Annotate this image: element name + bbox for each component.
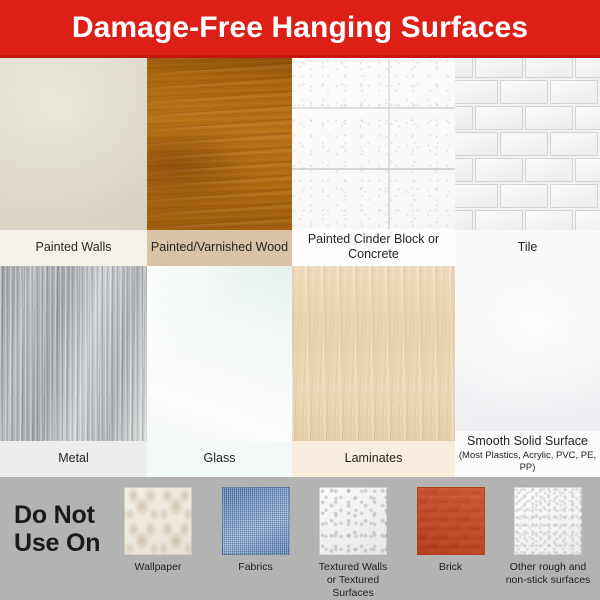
surface-caption: Smooth Solid Surface (Most Plastics, Acr… xyxy=(455,431,600,477)
do-not-item-label-line2: non-stick surfaces xyxy=(506,574,591,587)
textured-walls-swatch xyxy=(319,487,387,555)
surface-row-2: Metal Glass Laminates Smooth Solid Surfa… xyxy=(0,266,600,477)
smooth-solid-surface-swatch xyxy=(455,266,600,431)
do-not-use-on-items: Wallpaper Fabrics Textured Walls or Text… xyxy=(114,487,594,599)
surface-label: Tile xyxy=(518,240,538,255)
do-not-item-textured-walls: Textured Walls or Textured Surfaces xyxy=(309,487,397,599)
do-not-use-on-title: Do Not Use On xyxy=(6,487,114,557)
surface-label: Metal xyxy=(58,451,89,466)
metal-swatch xyxy=(0,266,147,441)
do-not-item-fabrics: Fabrics xyxy=(212,487,300,599)
surface-caption: Laminates xyxy=(292,441,455,477)
tile-pattern xyxy=(455,58,600,230)
laminate-swatch xyxy=(292,266,455,441)
do-not-item-wallpaper: Wallpaper xyxy=(114,487,202,599)
surface-caption: Metal xyxy=(0,441,147,477)
surface-label: Smooth Solid Surface xyxy=(467,434,588,449)
surface-sublabel: (Most Plastics, Acrylic, PVC, PE, PP) xyxy=(457,450,598,473)
fabrics-swatch xyxy=(222,487,290,555)
do-not-item-label-line1: Wallpaper xyxy=(135,561,182,574)
do-not-item-label-line1: Brick xyxy=(439,561,462,574)
do-not-item-label: Brick xyxy=(439,561,462,574)
do-not-item-label-line1: Textured Walls xyxy=(309,561,397,574)
header-banner: Damage-Free Hanging Surfaces xyxy=(0,0,600,58)
do-not-item-label-line2: or Textured Surfaces xyxy=(309,574,397,600)
surface-label: Painted/Varnished Wood xyxy=(151,240,288,255)
surface-cell-smooth-solid-surface: Smooth Solid Surface (Most Plastics, Acr… xyxy=(455,266,600,477)
tile-swatch xyxy=(455,58,600,230)
surface-row-1: Painted Walls Painted/Varnished Wood Pai… xyxy=(0,58,600,266)
do-not-item-label-line1: Other rough and xyxy=(506,561,591,574)
wallpaper-swatch xyxy=(124,487,192,555)
do-not-item-brick: Brick xyxy=(407,487,495,599)
page-title: Damage-Free Hanging Surfaces xyxy=(72,11,528,45)
do-not-item-label: Other rough and non-stick surfaces xyxy=(506,561,591,587)
do-not-item-label: Textured Walls or Textured Surfaces xyxy=(309,561,397,599)
surface-cell-painted-walls: Painted Walls xyxy=(0,58,147,266)
rough-surface-swatch xyxy=(514,487,582,555)
surface-caption: Glass xyxy=(147,441,292,477)
damage-free-hanging-surfaces-infographic: Damage-Free Hanging Surfaces Painted Wal… xyxy=(0,0,600,600)
surface-cell-glass: Glass xyxy=(147,266,292,477)
painted-wall-swatch xyxy=(0,58,147,230)
surface-label: Glass xyxy=(204,451,236,466)
brick-swatch xyxy=(417,487,485,555)
do-not-use-on-title-line1: Do Not xyxy=(14,501,114,529)
surface-label: Painted Walls xyxy=(36,240,112,255)
do-not-use-on-section: Do Not Use On Wallpaper Fabrics Textured… xyxy=(0,477,600,600)
cinder-block-swatch xyxy=(292,58,455,229)
do-not-item-label: Fabrics xyxy=(238,561,272,574)
surface-caption: Painted Cinder Block or Concrete xyxy=(292,229,455,267)
surface-caption: Tile xyxy=(455,230,600,266)
do-not-use-on-title-line2: Use On xyxy=(14,529,114,557)
do-not-item-rough-surfaces: Other rough and non-stick surfaces xyxy=(504,487,592,599)
do-not-item-label: Wallpaper xyxy=(135,561,182,574)
surface-label: Laminates xyxy=(345,451,403,466)
surface-cell-tile: Tile xyxy=(455,58,600,266)
surface-cell-painted-cinder-block: Painted Cinder Block or Concrete xyxy=(292,58,455,266)
surface-cell-metal: Metal xyxy=(0,266,147,477)
surface-caption: Painted Walls xyxy=(0,230,147,266)
surface-cell-painted-varnished-wood: Painted/Varnished Wood xyxy=(147,58,292,266)
surface-cell-laminates: Laminates xyxy=(292,266,455,477)
wood-swatch xyxy=(147,58,292,230)
surface-caption: Painted/Varnished Wood xyxy=(147,230,292,266)
surface-label: Painted Cinder Block or Concrete xyxy=(294,232,453,263)
do-not-item-label-line1: Fabrics xyxy=(238,561,272,574)
glass-swatch xyxy=(147,266,292,441)
